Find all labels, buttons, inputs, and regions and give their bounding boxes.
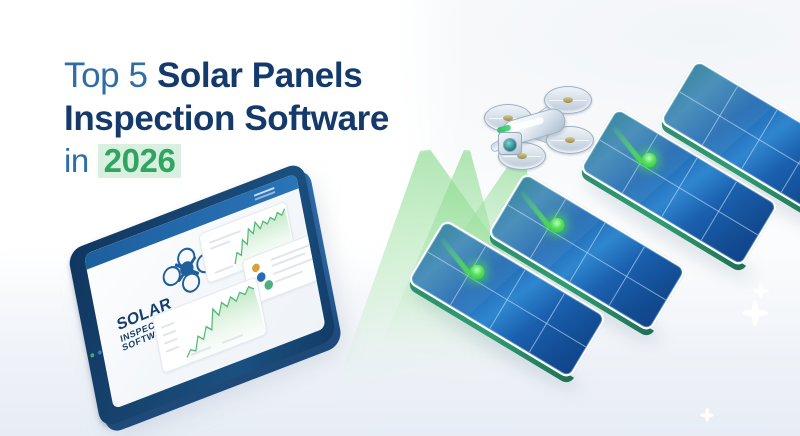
skeleton-line xyxy=(166,346,179,353)
tablet-indicator-dots xyxy=(90,347,109,358)
sparkle-icon xyxy=(742,300,768,326)
solar-panel-surface xyxy=(487,171,688,332)
skeleton-line xyxy=(270,243,311,261)
tablet-shadow xyxy=(81,180,347,436)
skeleton-line xyxy=(275,270,303,283)
menu-grip-icon[interactable] xyxy=(254,187,275,197)
skeleton-line xyxy=(164,338,177,345)
skeleton-line xyxy=(273,257,314,275)
skeleton-line xyxy=(271,252,305,267)
solar-cell-grid xyxy=(583,110,776,263)
drone-status-led xyxy=(496,124,511,134)
headline-in: in xyxy=(64,142,98,179)
scan-dot-icon xyxy=(547,215,568,236)
legend-dot-orange xyxy=(251,262,260,273)
brand-line-2: INSPECTION xyxy=(119,311,178,344)
brand-line-3: SOFTWARE xyxy=(122,320,181,353)
line-chart-top xyxy=(199,202,294,283)
sparkle-icon xyxy=(700,408,714,422)
legend-dot-blue xyxy=(256,271,266,283)
line-chart-bottom xyxy=(153,278,267,373)
scan-marker xyxy=(579,106,780,267)
tablet-device: SOLAR INSPECTION SOFTWARE xyxy=(67,161,337,429)
page-title: Top 5 Solar Panels Inspection Software i… xyxy=(64,56,494,180)
solar-panel-surface xyxy=(407,218,608,379)
tablet-screen: SOLAR INSPECTION SOFTWARE xyxy=(84,173,326,409)
drone-rotor xyxy=(498,142,546,170)
scan-beam xyxy=(439,238,472,277)
line-chart-card-bottom[interactable] xyxy=(152,276,268,374)
solar-cell-grid xyxy=(663,62,800,215)
skeleton-line xyxy=(209,230,241,244)
scan-beam xyxy=(611,126,644,165)
solar-panel-surface xyxy=(659,58,800,219)
tablet-frame xyxy=(67,161,337,429)
solar-panel-1 xyxy=(407,218,608,379)
solar-cell-grid xyxy=(491,175,684,328)
drone-arm xyxy=(521,126,568,149)
skeleton-line xyxy=(163,330,176,337)
drone-camera xyxy=(498,132,522,155)
scan-beam xyxy=(519,191,552,230)
solar-panel-2 xyxy=(487,171,688,332)
scan-dot-icon xyxy=(467,262,488,283)
legend-card[interactable] xyxy=(241,230,325,306)
drone-arm xyxy=(519,101,559,132)
brand-line-1: SOLAR xyxy=(116,295,176,335)
drone-rotor xyxy=(546,126,594,154)
sparkle-icon xyxy=(753,283,769,299)
line-chart-card-top[interactable] xyxy=(198,201,295,285)
infographic-banner: Top 5 Solar Panels Inspection Software i… xyxy=(0,0,800,436)
solar-panel-4 xyxy=(659,58,800,219)
skeleton-line xyxy=(222,334,243,344)
drone-body xyxy=(500,106,568,148)
drone-arm xyxy=(489,127,524,154)
app-topbar xyxy=(84,173,299,269)
headline-solar-panels: Solar Panels xyxy=(157,56,362,95)
scan-marker xyxy=(407,218,608,379)
headline-top5: Top 5 xyxy=(64,56,157,95)
tablet-side-edge xyxy=(73,167,343,435)
drone-icon xyxy=(159,239,215,298)
scan-dot-icon xyxy=(639,150,660,171)
headline-year: 2026 xyxy=(98,142,182,179)
headline-line-1: Top 5 Solar Panels xyxy=(64,56,494,97)
headline-line-3: in 2026 xyxy=(64,142,494,180)
skeleton-line xyxy=(161,322,174,329)
skeleton-line xyxy=(215,265,234,274)
background-lower-sheen xyxy=(0,246,800,436)
skeleton-line xyxy=(254,250,273,259)
skeleton-line xyxy=(210,240,231,250)
solar-panel-surface xyxy=(579,106,780,267)
skeleton-line xyxy=(190,346,211,356)
app-brand-lockup: SOLAR INSPECTION SOFTWARE xyxy=(116,295,181,354)
solar-cell-grid xyxy=(411,222,604,375)
solar-panel-3 xyxy=(579,106,780,267)
drone-rotor xyxy=(544,86,592,114)
legend-dot-green xyxy=(264,279,274,291)
scan-marker xyxy=(487,171,688,332)
headline-line-2: Inspection Software xyxy=(64,99,494,140)
camera-lens-icon xyxy=(503,138,517,152)
